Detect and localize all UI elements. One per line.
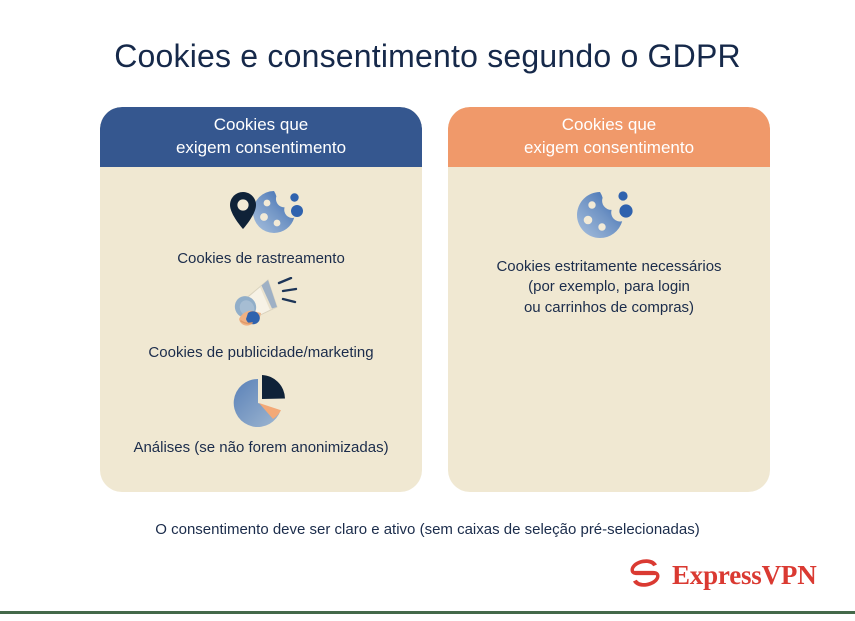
card-left-header-line1: Cookies que bbox=[214, 115, 309, 134]
list-item: Cookies estritamente necessários (por ex… bbox=[448, 181, 770, 318]
consent-footnote: O consentimento deve ser claro e ativo (… bbox=[0, 521, 855, 538]
expressvpn-wordmark: ExpressVPN bbox=[672, 562, 817, 589]
bottom-divider bbox=[0, 611, 855, 614]
list-item-label: Cookies de publicidade/marketing bbox=[138, 343, 383, 363]
card-left-header: Cookies que exigem consentimento bbox=[100, 107, 422, 167]
expressvpn-logo-icon bbox=[627, 557, 663, 594]
card-right-header: Cookies que exigem consentimento bbox=[448, 107, 770, 167]
list-item-label: Análises (se não forem anonimizadas) bbox=[123, 438, 398, 458]
expressvpn-logo: ExpressVPN bbox=[627, 557, 817, 594]
infographic-page: Cookies e consentimento segundo o GDPR C… bbox=[0, 0, 855, 621]
list-item-label: Cookies de rastreamento bbox=[167, 249, 355, 269]
card-right-header-line2: exigem consentimento bbox=[524, 138, 694, 157]
cards-container: Cookies que exigem consentimento bbox=[100, 107, 770, 492]
card-cookies-requiring-consent: Cookies que exigem consentimento bbox=[100, 107, 422, 492]
megaphone-icon bbox=[223, 275, 299, 337]
list-item: Cookies de publicidade/marketing bbox=[100, 275, 422, 363]
list-item-label-line3: ou carrinhos de compras) bbox=[524, 299, 694, 316]
location-pin-cookie-icon bbox=[218, 181, 304, 243]
cookie-icon bbox=[572, 181, 646, 249]
list-item: Análises (se não forem anonimizadas) bbox=[100, 370, 422, 458]
page-title: Cookies e consentimento segundo o GDPR bbox=[0, 38, 855, 75]
list-item-label-line2: (por exemplo, para login bbox=[528, 278, 690, 295]
pie-chart-icon bbox=[228, 370, 294, 432]
card-left-header-line2: exigem consentimento bbox=[176, 138, 346, 157]
list-item: Cookies de rastreamento bbox=[100, 181, 422, 269]
list-item-label-line1: Cookies estritamente necessários bbox=[496, 258, 721, 275]
card-right-header-line1: Cookies que bbox=[562, 115, 657, 134]
card-right-body: Cookies estritamente necessários (por ex… bbox=[448, 167, 770, 492]
card-cookies-strictly-necessary: Cookies que exigem consentimento bbox=[448, 107, 770, 492]
card-left-body: Cookies de rastreamento bbox=[100, 167, 422, 492]
list-item-label: Cookies estritamente necessários (por ex… bbox=[486, 257, 731, 318]
